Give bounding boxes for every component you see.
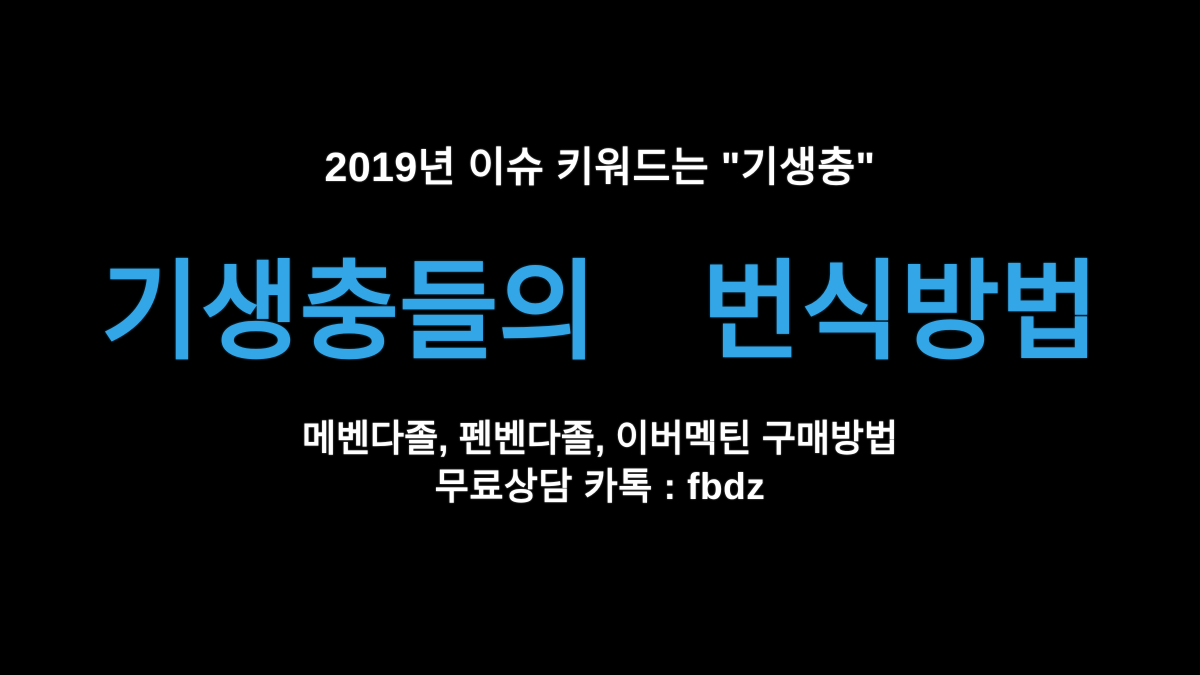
- subtitle-line-contact: 무료상담 카톡 : fbdz: [0, 463, 1200, 511]
- subtitle-line-products: 메벤다졸, 펜벤다졸, 이버멕틴 구매방법: [0, 415, 1200, 463]
- subtitle-block: 메벤다졸, 펜벤다졸, 이버멕틴 구매방법 무료상담 카톡 : fbdz: [0, 415, 1200, 511]
- headline-text: 기생충들의 번식방법: [0, 258, 1200, 366]
- video-frame: 2019년 이슈 키워드는 "기생충" 기생충들의 번식방법 메벤다졸, 펜벤다…: [0, 0, 1200, 675]
- kicker-line: 2019년 이슈 키워드는 "기생충": [0, 146, 1200, 189]
- title-card: 2019년 이슈 키워드는 "기생충" 기생충들의 번식방법 메벤다졸, 펜벤다…: [0, 0, 1200, 675]
